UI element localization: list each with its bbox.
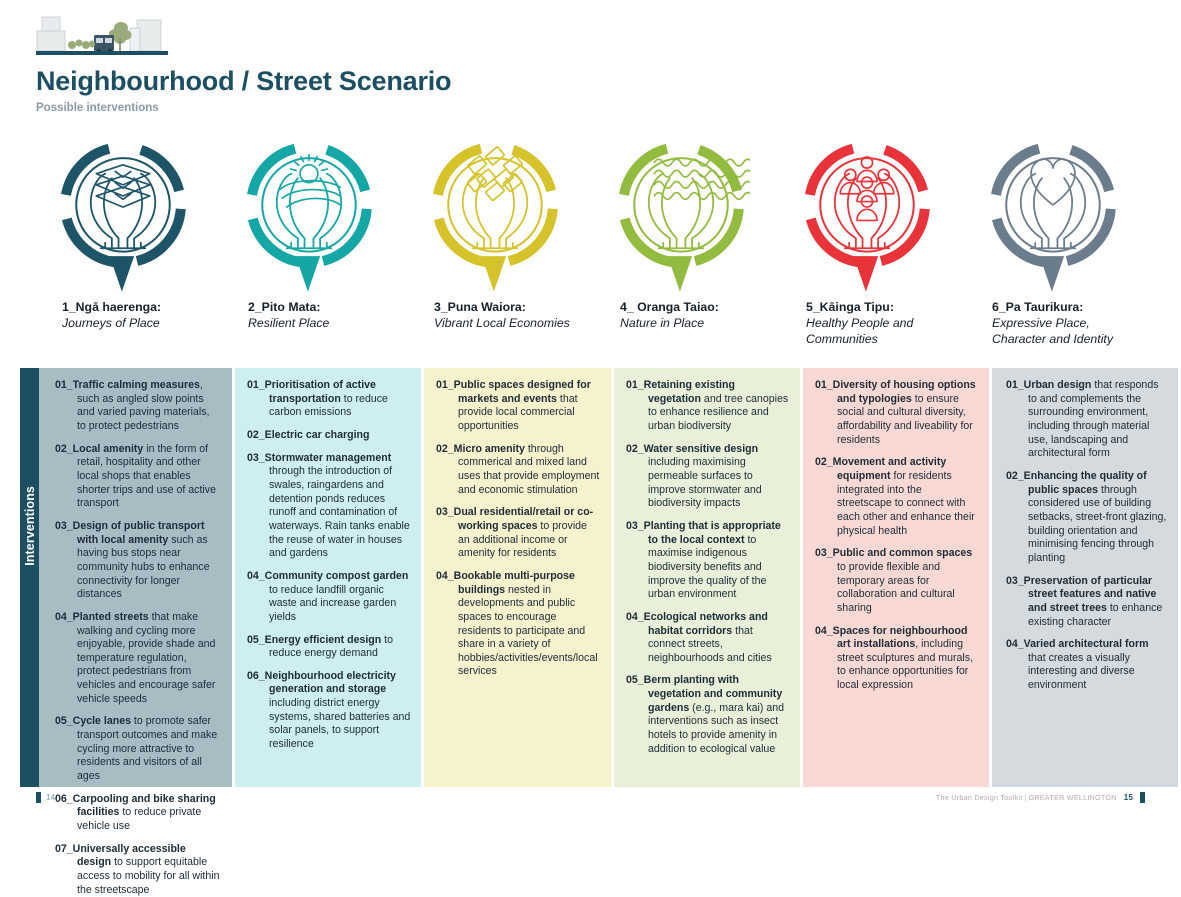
interventions-columns: 01_Traffic calming measures, such as ang… bbox=[39, 368, 1178, 787]
footer-right: The Urban Design Toolkit|GREATER WELLING… bbox=[936, 792, 1145, 803]
hands-cradling-weave-icon bbox=[426, 140, 564, 292]
interventions-rail: Interventions bbox=[20, 368, 39, 787]
theme-badge-1 bbox=[30, 140, 216, 292]
theme-badge-3 bbox=[402, 140, 588, 292]
intervention-description: that make walking and cycling more enjoy… bbox=[77, 611, 215, 705]
footer-page-number-left: 14 bbox=[46, 793, 55, 802]
intervention-label: 04_Community compost garden bbox=[247, 570, 408, 582]
footer-title-text: The Urban Design Toolkit bbox=[936, 793, 1023, 802]
intervention-column-4: 01_Retaining existing vegetation and tre… bbox=[614, 368, 800, 787]
footer-separator: | bbox=[1024, 793, 1026, 802]
intervention-label: 05_Cycle lanes bbox=[55, 715, 131, 727]
intervention-item: 01_Diversity of housing options and typo… bbox=[815, 379, 979, 447]
footer-left: 14 bbox=[36, 792, 55, 803]
street-scene-svg bbox=[36, 14, 168, 60]
intervention-item: 02_Enhancing the quality of public space… bbox=[1006, 470, 1168, 566]
theme-subtitle-3: Vibrant Local Economies bbox=[434, 316, 570, 332]
intervention-item: 06_Carpooling and bike sharing facilitie… bbox=[55, 793, 221, 834]
theme-subtitle-1: Journeys of Place bbox=[62, 316, 160, 332]
theme-name-2: 2_Pito Mata: bbox=[248, 300, 320, 315]
theme-badge-4 bbox=[588, 140, 774, 292]
theme-name-3: 3_Puna Waiora: bbox=[434, 300, 526, 315]
intervention-item: 04_Spaces for neighbourhood art installa… bbox=[815, 625, 979, 693]
street-scene-illustration bbox=[36, 14, 168, 60]
interventions-rail-label: Interventions bbox=[23, 486, 37, 566]
theme-subtitle-6: Expressive Place, Character and Identity bbox=[992, 316, 1144, 348]
theme-name-6: 6_Pa Taurikura: bbox=[992, 300, 1083, 315]
hands-cradling-people-icon bbox=[798, 140, 936, 292]
intervention-item: 03_Design of public transport with local… bbox=[55, 520, 221, 602]
page-subtitle: Possible interventions bbox=[36, 102, 159, 114]
theme-name-4: 4_ Oranga Taiao: bbox=[620, 300, 719, 315]
intervention-column-6: 01_Urban design that responds to and com… bbox=[992, 368, 1178, 787]
page-title: Neighbourhood / Street Scenario bbox=[36, 66, 451, 97]
intervention-item: 04_Bookable multi-purpose buildings nest… bbox=[436, 570, 601, 679]
intervention-description: including maximising permeable surfaces … bbox=[648, 456, 762, 509]
theme-subtitle-4: Nature in Place bbox=[620, 316, 704, 332]
theme-cell-2: 2_Pito Mata:Resilient Place bbox=[216, 140, 402, 360]
page-tick-icon-right bbox=[1140, 792, 1145, 803]
intervention-item: 01_Prioritisation of active transportati… bbox=[247, 379, 411, 420]
intervention-description: nested in developments and public spaces… bbox=[458, 584, 598, 678]
intervention-column-2: 01_Prioritisation of active transportati… bbox=[235, 368, 421, 787]
intervention-description: to provide flexible and temporary areas … bbox=[837, 561, 955, 614]
theme-badge-5 bbox=[774, 140, 960, 292]
intervention-item: 03_Planting that is appropriate to the l… bbox=[626, 520, 790, 602]
intervention-column-3: 01_Public spaces designed for markets an… bbox=[424, 368, 611, 787]
intervention-label: 04_Varied architectural form bbox=[1006, 638, 1149, 650]
intervention-item: 04_Ecological networks and habitat corri… bbox=[626, 611, 790, 666]
intervention-item: 05_Energy efficient design to reduce ene… bbox=[247, 634, 411, 661]
intervention-description: that responds to and complements the sur… bbox=[1028, 379, 1159, 459]
intervention-item: 02_Electric car charging bbox=[247, 429, 411, 443]
theme-badge-6 bbox=[960, 140, 1146, 292]
theme-cell-4: 4_ Oranga Taiao:Nature in Place bbox=[588, 140, 774, 360]
theme-icon-strip: 1_Ngā haerenga:Journeys of Place2_Pito M… bbox=[30, 140, 1160, 360]
intervention-label: 02_Water sensitive design bbox=[626, 443, 758, 455]
intervention-description: that creates a visually interesting and … bbox=[1028, 652, 1135, 691]
intervention-label: 03_Stormwater management bbox=[247, 452, 391, 464]
hands-cradling-heart-icon bbox=[984, 140, 1122, 292]
theme-name-1: 1_Ngā haerenga: bbox=[62, 300, 161, 315]
hands-cradling-water-icon bbox=[612, 140, 750, 292]
intervention-item: 03_Preservation of particular street fea… bbox=[1006, 575, 1168, 630]
intervention-item: 01_Retaining existing vegetation and tre… bbox=[626, 379, 790, 434]
theme-cell-1: 1_Ngā haerenga:Journeys of Place bbox=[30, 140, 216, 360]
footer-document-title: The Urban Design Toolkit|GREATER WELLING… bbox=[936, 793, 1117, 802]
theme-cell-3: 3_Puna Waiora:Vibrant Local Economies bbox=[402, 140, 588, 360]
intervention-label: 02_Local amenity bbox=[55, 443, 143, 455]
footer-organisation: GREATER WELLINGTON bbox=[1029, 793, 1117, 802]
intervention-item: 06_Neighbourhood electricity generation … bbox=[247, 670, 411, 752]
theme-name-5: 5_Kāinga Tipu: bbox=[806, 300, 894, 315]
intervention-label: 05_Energy efficient design bbox=[247, 634, 381, 646]
intervention-label: 06_Neighbourhood electricity generation … bbox=[247, 670, 396, 696]
intervention-item: 03_Public and common spaces to provide f… bbox=[815, 547, 979, 615]
intervention-label: 04_Planted streets bbox=[55, 611, 149, 623]
intervention-item: 03_Stormwater management through the int… bbox=[247, 452, 411, 561]
intervention-item: 07_Universally accessible design to supp… bbox=[55, 843, 221, 897]
intervention-column-5: 01_Diversity of housing options and typo… bbox=[803, 368, 989, 787]
intervention-item: 01_Urban design that responds to and com… bbox=[1006, 379, 1168, 461]
intervention-label: 01_Urban design bbox=[1006, 379, 1091, 391]
intervention-description: to reduce landfill organic waste and inc… bbox=[269, 584, 396, 623]
intervention-item: 02_Water sensitive design including maxi… bbox=[626, 443, 790, 511]
intervention-item: 04_Community compost garden to reduce la… bbox=[247, 570, 411, 625]
intervention-label: 03_Planting that is appropriate to the l… bbox=[626, 520, 781, 546]
intervention-label: 02_Micro amenity bbox=[436, 443, 525, 455]
intervention-item: 03_Dual residential/retail or co-working… bbox=[436, 506, 601, 561]
intervention-item: 02_Movement and activity equipment for r… bbox=[815, 456, 979, 538]
intervention-label: 03_Public and common spaces bbox=[815, 547, 972, 559]
intervention-item: 02_Local amenity in the form of retail, … bbox=[55, 443, 221, 511]
theme-subtitle-2: Resilient Place bbox=[248, 316, 329, 332]
theme-subtitle-5: Healthy People and Communities bbox=[806, 316, 958, 348]
intervention-item: 05_Cycle lanes to promote safer transpor… bbox=[55, 715, 221, 783]
theme-cell-5: 5_Kāinga Tipu:Healthy People and Communi… bbox=[774, 140, 960, 360]
intervention-item: 01_Public spaces designed for markets an… bbox=[436, 379, 601, 434]
footer-page-number-right: 15 bbox=[1124, 793, 1133, 802]
intervention-label: 01_Traffic calming measures bbox=[55, 379, 200, 391]
interventions-band: Interventions 01_Traffic calming measure… bbox=[20, 368, 1166, 787]
intervention-item: 02_Micro amenity through commerical and … bbox=[436, 443, 601, 498]
theme-cell-6: 6_Pa Taurikura:Expressive Place, Charact… bbox=[960, 140, 1146, 360]
intervention-label: 02_Electric car charging bbox=[247, 429, 369, 441]
intervention-item: 05_Berm planting with vegetation and com… bbox=[626, 674, 790, 756]
intervention-item: 01_Traffic calming measures, such as ang… bbox=[55, 379, 221, 434]
theme-badge-2 bbox=[216, 140, 402, 292]
hands-cradling-chevrons-icon bbox=[54, 140, 192, 292]
hands-cradling-sunrise-icon bbox=[240, 140, 378, 292]
intervention-description: through the introduction of swales, rain… bbox=[269, 465, 410, 559]
intervention-item: 04_Varied architectural form that create… bbox=[1006, 638, 1168, 693]
intervention-column-1: 01_Traffic calming measures, such as ang… bbox=[39, 368, 232, 787]
intervention-description: including district energy systems, share… bbox=[269, 697, 410, 750]
intervention-item: 04_Planted streets that make walking and… bbox=[55, 611, 221, 707]
page-tick-icon bbox=[36, 792, 41, 803]
